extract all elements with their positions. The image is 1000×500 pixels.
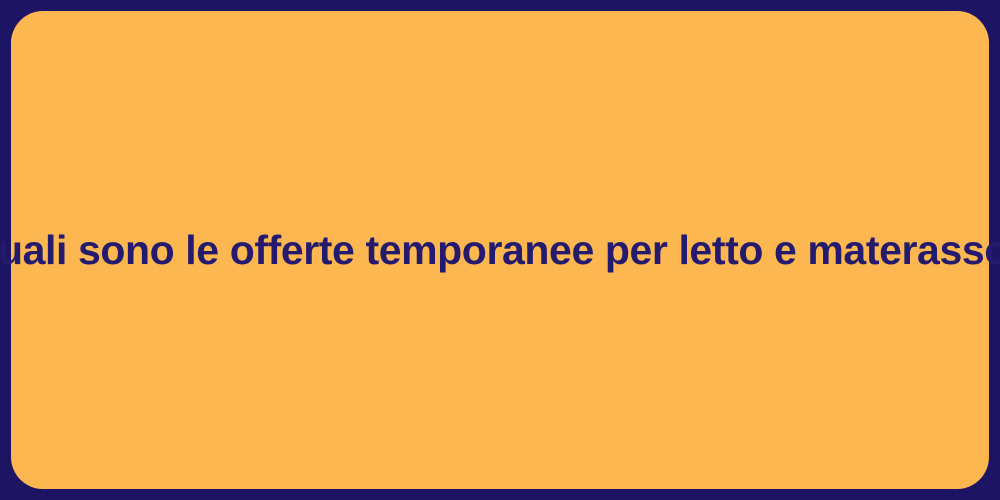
- question-heading: Quali sono le offerte temporanee per let…: [0, 226, 1000, 274]
- page-background: Quali sono le offerte temporanee per let…: [0, 0, 1000, 500]
- question-card: Quali sono le offerte temporanee per let…: [11, 11, 989, 489]
